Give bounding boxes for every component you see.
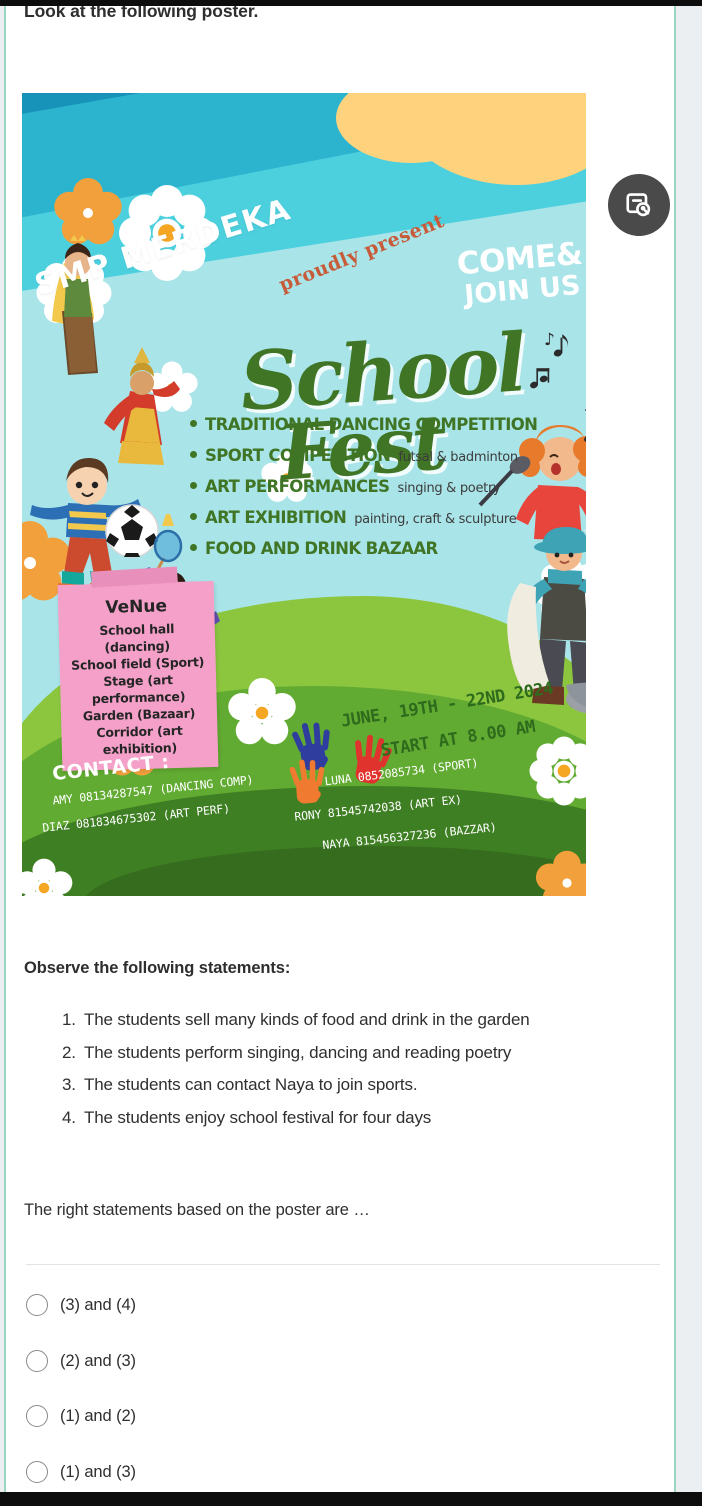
page-title: Look at the following poster. [24, 4, 624, 22]
statement-number: 2. [62, 1037, 84, 1070]
poster-venue-note: VeNue School hall (dancing) School field… [58, 581, 219, 771]
statement-text: The students perform singing, dancing an… [84, 1037, 511, 1070]
bullet-dot-icon [190, 513, 197, 520]
statement-number: 1. [62, 1004, 84, 1037]
statement-text: The students enjoy school festival for f… [84, 1102, 431, 1135]
bullet-dot-icon [190, 451, 197, 458]
section-divider [26, 1264, 660, 1265]
radio-button-2[interactable] [26, 1350, 48, 1372]
radio-button-3[interactable] [26, 1405, 48, 1427]
document-search-icon [624, 190, 654, 220]
statement-item: 3. The students can contact Naya to join… [62, 1069, 672, 1102]
statement-text: The students sell many kinds of food and… [84, 1004, 530, 1037]
poster-event-item: FOOD AND DRINK BAZAAR [190, 539, 586, 558]
poster-event-main: SPORT COMPETITION [205, 446, 390, 465]
poster-event-list: TRADITIONAL DANCING COMPETITION SPORT CO… [190, 415, 586, 570]
option-row-1[interactable]: (3) and (4) [26, 1292, 136, 1318]
statement-text: The students can contact Naya to join sp… [84, 1069, 417, 1102]
venue-line: School hall (dancing) [65, 619, 210, 657]
statement-number: 3. [62, 1069, 84, 1102]
option-row-2[interactable]: (2) and (3) [26, 1348, 136, 1374]
poster-event-main: ART PERFORMANCES [205, 477, 389, 496]
statements-list: 1. The students sell many kinds of food … [62, 1004, 672, 1134]
quiz-content-card: Look at the following poster. [4, 4, 676, 1492]
document-search-fab[interactable] [608, 174, 670, 236]
statements-heading: Observe the following statements: [24, 959, 290, 978]
poster-event-item: ART EXHIBITION painting, craft & sculptu… [190, 508, 586, 527]
poster-event-main: FOOD AND DRINK BAZAAR [205, 539, 438, 558]
poster-event-sub: singing & poetry [397, 481, 500, 496]
poster-event-sub: painting, craft & sculpture [354, 512, 516, 527]
app-root: Look at the following poster. [0, 0, 702, 1506]
question-text: The right statements based on the poster… [24, 1201, 370, 1220]
option-label-4: (1) and (3) [60, 1463, 136, 1482]
bottom-nav-bar [0, 1492, 702, 1506]
option-label-3: (1) and (2) [60, 1407, 136, 1426]
bullet-dot-icon [190, 544, 197, 551]
poster-event-item: ART PERFORMANCES singing & poetry [190, 477, 586, 496]
poster-event-sub: futsal & badminton [398, 450, 518, 465]
top-status-bar [0, 0, 702, 6]
poster-event-item: SPORT COMPETITION futsal & badminton [190, 446, 586, 465]
statement-number: 4. [62, 1102, 84, 1135]
svg-text:♪: ♪ [584, 397, 586, 415]
bullet-dot-icon [190, 482, 197, 489]
venue-title: VeNue [64, 595, 208, 619]
option-row-4[interactable]: (1) and (3) [26, 1459, 136, 1485]
poster-event-item: TRADITIONAL DANCING COMPETITION [190, 415, 586, 434]
poster-come-join-badge: COME& JOIN US [443, 237, 586, 314]
poster-event-main: TRADITIONAL DANCING COMPETITION [205, 415, 537, 434]
right-gutter [680, 0, 702, 1506]
option-label-1: (3) and (4) [60, 1296, 136, 1315]
radio-button-4[interactable] [26, 1461, 48, 1483]
venue-line: Stage (art performance) [66, 670, 211, 708]
bullet-dot-icon [190, 420, 197, 427]
option-row-3[interactable]: (1) and (2) [26, 1403, 136, 1429]
statement-item: 1. The students sell many kinds of food … [62, 1004, 672, 1037]
poster-event-main: ART EXHIBITION [205, 508, 346, 527]
statement-item: 2. The students perform singing, dancing… [62, 1037, 672, 1070]
poster-image: ♪ ♪ [22, 93, 586, 896]
statement-item: 4. The students enjoy school festival fo… [62, 1102, 672, 1135]
radio-button-1[interactable] [26, 1294, 48, 1316]
option-label-2: (2) and (3) [60, 1352, 136, 1371]
